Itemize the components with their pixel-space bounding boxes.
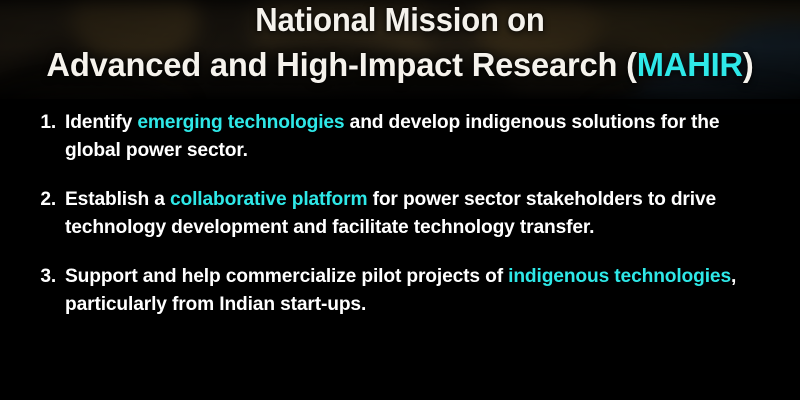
list-item: 3. Support and help commercialize pilot …: [0, 262, 788, 318]
list-item: 1. Identify emerging technologies and de…: [0, 99, 788, 164]
mahir-infographic-card: National Mission on Advanced and High-Im…: [0, 0, 800, 400]
title-line-1: National Mission on: [24, 0, 776, 36]
list-item-highlight: collaborative platform: [170, 188, 367, 210]
list-item-text-before: Identify: [65, 111, 137, 133]
list-item-number: 1.: [40, 108, 66, 136]
title-line-2: Advanced and High-Impact Research (MAHIR…: [4, 36, 796, 81]
list-item-highlight: emerging technologies: [137, 111, 344, 133]
list-item-highlight: indigenous technologies: [508, 265, 731, 287]
title-line-2-after: ): [743, 46, 754, 83]
title-acronym-mahir: MAHIR: [637, 46, 743, 83]
title-line-2-before: Advanced and High-Impact Research (: [46, 46, 636, 83]
list-item-text-before: Establish a: [65, 188, 170, 210]
objectives-list: 1. Identify emerging technologies and de…: [0, 99, 800, 339]
list-item: 2. Establish a collaborative platform fo…: [0, 185, 788, 241]
list-item-number: 3.: [40, 262, 66, 290]
list-item-text-before: Support and help commercialize pilot pro…: [65, 265, 508, 287]
list-item-number: 2.: [40, 185, 66, 213]
page-title: National Mission on Advanced and High-Im…: [0, 0, 800, 81]
